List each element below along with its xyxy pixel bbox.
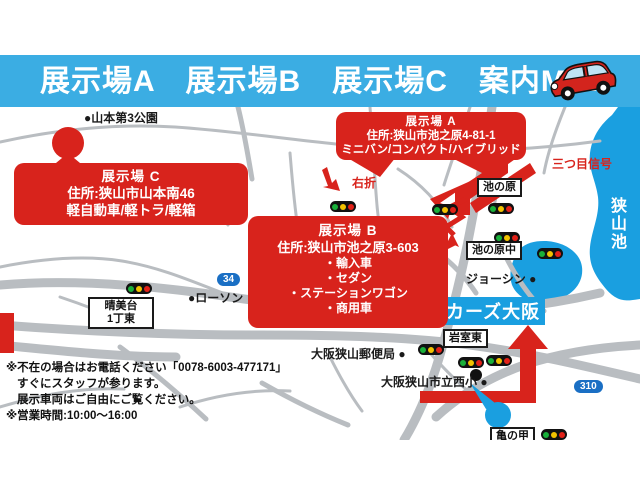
- note-line-3: 展示車両はご自由にご覧ください。: [6, 392, 306, 408]
- callout-c-address: 住所:狭山市山本南46: [14, 185, 248, 202]
- map-poster: 展示場A 展示場B 展示場C 案内MAP: [0, 0, 640, 480]
- label-harumidai-line2: 1丁東: [94, 313, 148, 326]
- traffic-signal-west: [432, 204, 458, 215]
- traffic-signal-ikenohara: [488, 203, 514, 214]
- route-shield-34: 34: [216, 272, 241, 287]
- traffic-signal-harumidai: [126, 283, 152, 294]
- red-edge-strip: [0, 313, 14, 353]
- label-ikenohara: 池の原: [477, 178, 522, 197]
- callout-b-item-3: ・商用車: [248, 301, 448, 316]
- traffic-signal-joshin: [537, 248, 563, 259]
- label-cars-osaka: カーズ大阪: [441, 297, 545, 325]
- traffic-signal-kamenoko: [541, 429, 567, 440]
- footer-note: ※不在の場合はお電話ください「0078-6003-477171」 すぐにスタッフ…: [6, 360, 306, 424]
- callout-b-address: 住所:狭山市池之原3-603: [248, 239, 448, 256]
- callout-a-title: 展示場 A: [336, 116, 526, 129]
- callout-b-item-2: ・ステーションワゴン: [248, 286, 448, 301]
- route-shield-310: 310: [573, 379, 604, 394]
- callout-box-a[interactable]: 展示場 A 住所:狭山市池之原4-81-1 ミニバン/コンパクト/ハイブリッド: [336, 112, 526, 160]
- traffic-signal-iwamuro: [486, 355, 512, 366]
- callout-box-b[interactable]: 展示場 B 住所:狭山市池之原3-603 ・輸入車 ・セダン ・ステーションワゴ…: [248, 216, 448, 328]
- note-line-4: ※営業時間:10:00〜16:00: [6, 408, 306, 424]
- label-harumidai: 晴美台 1丁東: [88, 297, 154, 329]
- label-turn-right: 右折: [352, 174, 376, 191]
- label-third-signal: 三つ目信号: [552, 155, 612, 172]
- callout-b-title: 展示場 B: [248, 222, 448, 239]
- red-car-icon: [545, 58, 619, 104]
- label-lawson: ●ローソン: [188, 289, 243, 306]
- label-post-office: 大阪狭山郵便局 ●: [311, 345, 406, 362]
- label-nishi-elementary: 大阪狭山市立西小 ●: [381, 373, 488, 390]
- label-iwamuro-higashi: 岩室東: [443, 329, 488, 348]
- callout-c-types: 軽自動車/軽トラ/軽箱: [14, 202, 248, 219]
- note-line-1: ※不在の場合はお電話ください「0078-6003-477171」: [6, 360, 306, 376]
- red-arrow-turn-right: [322, 167, 340, 191]
- label-sayama-pond: 狭山池: [604, 197, 628, 251]
- page-title: 展示場A 展示場B 展示場C 案内MAP: [40, 60, 540, 104]
- traffic-signal-turn: [330, 201, 356, 212]
- callout-a-types: ミニバン/コンパクト/ハイブリッド: [336, 143, 526, 157]
- callout-c-title: 展示場 C: [14, 168, 248, 185]
- label-harumidai-line1: 晴美台: [94, 300, 148, 313]
- callout-a-address: 住所:狭山市池之原4-81-1: [336, 129, 526, 143]
- traffic-signal-ikenohara-naka: [494, 232, 520, 243]
- label-ikenohara-naka: 池の原中: [466, 241, 522, 260]
- callout-b-item-1: ・セダン: [248, 271, 448, 286]
- traffic-signal-post: [418, 344, 444, 355]
- callout-box-c[interactable]: 展示場 C 住所:狭山市山本南46 軽自動車/軽トラ/軽箱: [14, 163, 248, 225]
- note-line-2: すぐにスタッフが参ります。: [6, 376, 306, 392]
- label-yamamoto-park: ●山本第3公園: [84, 109, 158, 126]
- label-joshin: ジョーシン ●: [466, 270, 536, 287]
- traffic-signal-east: [458, 357, 484, 368]
- callout-b-item-0: ・輸入車: [248, 256, 448, 271]
- label-kamenoko: 亀の甲: [490, 427, 535, 440]
